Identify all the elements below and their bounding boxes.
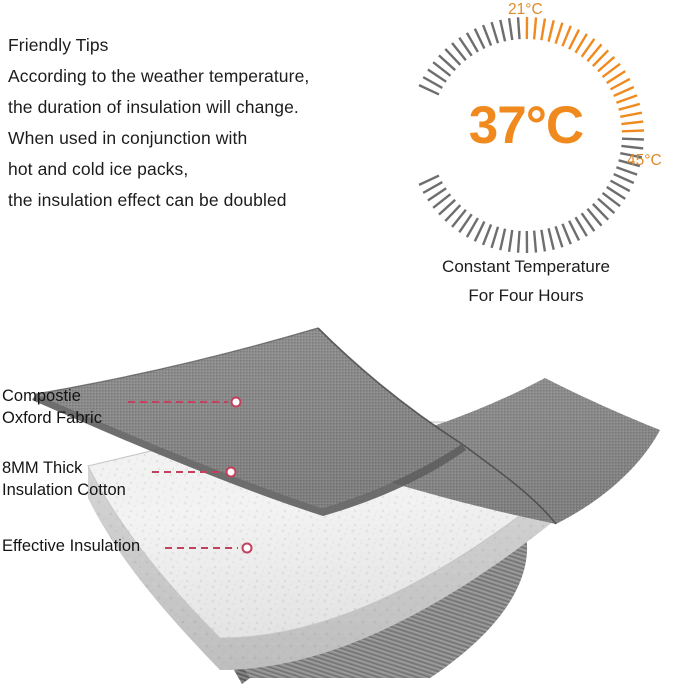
gauge-max-label: 45°C [627,152,662,170]
leader-dot-oxford [232,398,241,407]
gauge-tick-inactive [423,77,442,88]
temperature-gauge: 37°C 21°C 45°C Constant Temperature For … [395,0,679,320]
gauge-tick-inactive [500,229,505,250]
callout-label-line: Effective Insulation [2,535,140,557]
gauge-tick-inactive [509,230,512,252]
callout-label-line: Insulation Cotton [2,479,126,501]
gauge-tick-active [562,26,570,46]
callout-label-line: Oxford Fabric [2,407,102,429]
gauge-tick-inactive [562,224,570,244]
gauge-tick-inactive [518,17,519,39]
fabric-layers-illustration [0,318,679,685]
callout-effective-insulation: Effective Insulation [2,535,140,557]
leader-dot-cotton [227,468,236,477]
gauge-tick-inactive [556,226,563,247]
gauge-tick-inactive [569,221,579,241]
gauge-tick-inactive [509,18,512,40]
gauge-tick-active [610,79,629,89]
leader-dot-effective [243,544,252,553]
tips-line: When used in conjunction with [8,123,378,154]
gauge-tick-inactive [483,25,491,45]
friendly-tips-block: Friendly Tips According to the weather t… [8,30,378,216]
gauge-caption-line: For Four Hours [395,281,657,310]
gauge-caption-line: Constant Temperature [395,252,657,281]
gauge-tick-active [541,19,545,41]
callout-oxford-fabric: Compostie Oxford Fabric [2,385,102,429]
gauge-tick-inactive [534,231,536,253]
gauge-value-text: 37°C [395,99,657,152]
gauge-tick-active [614,87,634,96]
gauge-tick-inactive [475,29,485,49]
gauge-tick-inactive [492,227,498,248]
tips-line: hot and cold ice packs, [8,154,378,185]
gauge-tick-active [556,23,563,44]
gauge-tick-active [534,17,536,39]
callout-label-line: 8MM Thick [2,457,126,479]
gauge-tick-inactive [419,176,439,185]
tips-line: the duration of insulation will change. [8,92,378,123]
gauge-tick-inactive [423,182,442,193]
gauge-tick-active [569,30,579,50]
tips-line: the insulation effect can be doubled [8,185,378,216]
gauge-tick-inactive [541,230,545,252]
gauge-tick-inactive [614,174,634,183]
gauge-tick-active [549,20,554,41]
gauge-tick-inactive [549,228,554,249]
gauge-tick-inactive [475,222,485,242]
gauge-tick-inactive [492,22,498,43]
callout-label-line: Compostie [2,385,102,407]
gauge-tick-inactive [610,181,629,191]
tips-line: Friendly Tips [8,30,378,61]
gauge-tick-inactive [518,231,519,253]
gauge-min-label: 21°C [508,1,543,19]
tips-line: According to the weather temperature, [8,61,378,92]
callout-insulation-cotton: 8MM Thick Insulation Cotton [2,457,126,501]
gauge-tick-inactive [500,20,505,41]
gauge-tick-inactive [419,85,439,94]
gauge-caption: Constant Temperature For Four Hours [395,252,657,310]
gauge-tick-inactive [483,224,491,244]
